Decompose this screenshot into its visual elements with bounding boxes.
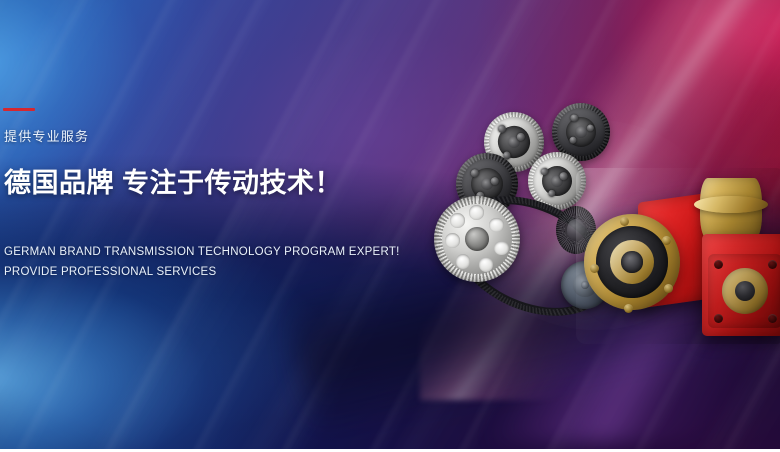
banner-kicker: 提供专业服务 [4, 130, 423, 143]
banner-subtitle-line-1: GERMAN BRAND TRANSMISSION TECHNOLOGY PRO… [4, 242, 423, 262]
banner-headline: 德国品牌 专注于传动技术！ [4, 168, 423, 199]
banner-subtitle: GERMAN BRAND TRANSMISSION TECHNOLOGY PRO… [4, 242, 423, 282]
banner-copy: 提供专业服务 德国品牌 专注于传动技术！ GERMAN BRAND TRANSM… [3, 108, 423, 282]
promo-banner: 提供专业服务 德国品牌 专注于传动技术！ GERMAN BRAND TRANSM… [0, 0, 780, 452]
accent-rule [3, 108, 35, 111]
banner-subtitle-line-2: PROVIDE PROFESSIONAL SERVICES [4, 262, 423, 282]
